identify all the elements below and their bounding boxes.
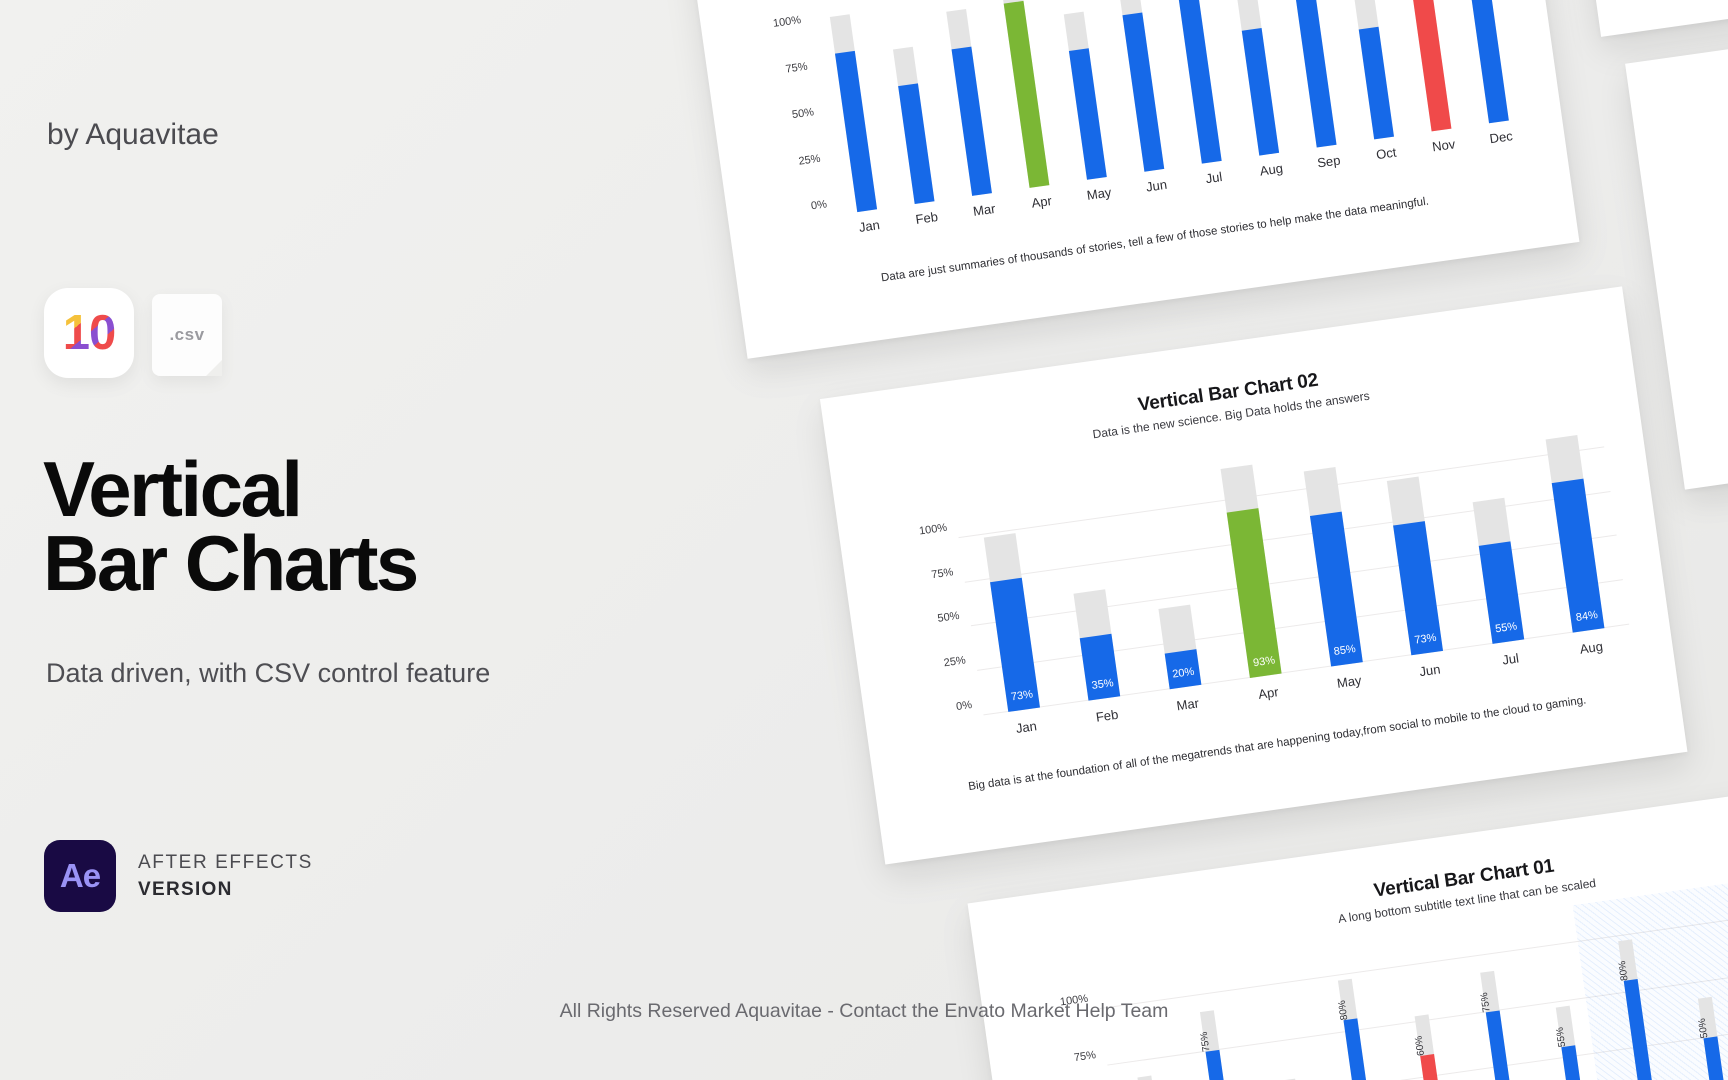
bar-fill[interactable]	[1178, 0, 1222, 164]
bar-fill[interactable]	[1420, 1054, 1453, 1080]
bar-category-label: May	[1086, 185, 1112, 203]
author-byline: by Aquavitae	[47, 118, 219, 152]
plot2-ytick: 50%	[937, 610, 960, 625]
bar-category-label: Apr	[1257, 684, 1279, 702]
left-info-panel: by Aquavitae 10 .csv Vertical Bar Charts…	[0, 0, 700, 1080]
bar-category-label: Jun	[1145, 177, 1168, 195]
footer-rights-text: All Rights Reserved Aquavitae - Contact …	[0, 1000, 1728, 1023]
bar-category-label: Jan	[1015, 718, 1038, 736]
after-effects-line-1: AFTER EFFECTS	[138, 852, 313, 874]
after-effects-icon: Ae	[44, 840, 116, 912]
plot3-bars: JanFebMarAprMayJunJulAugSepOctNovDec	[806, 0, 1528, 215]
chart-card-03[interactable]: Vertical Bar Chart 03 Where there is dat…	[682, 0, 1579, 359]
bar-category-label: Feb	[1095, 707, 1119, 725]
chart-card-04[interactable]: 40k 30k 20k 10k 0k	[1543, 0, 1728, 37]
bar-category-label: Apr	[1031, 193, 1053, 211]
bar-track	[1138, 1076, 1173, 1080]
bar-category-label: Jun	[1418, 661, 1441, 679]
bar-fill[interactable]	[1624, 979, 1663, 1080]
chart-05-body	[1625, 4, 1728, 490]
bar-fill[interactable]	[1465, 0, 1509, 123]
bar-category-label: Nov	[1431, 136, 1456, 154]
plot1-bars: 50%First line data75%Second line data40%…	[1096, 868, 1728, 1080]
bar-fill[interactable]	[1122, 13, 1164, 172]
bar-category-label: Jul	[1501, 650, 1520, 667]
page-tagline: Data driven, with CSV control feature	[46, 658, 490, 689]
bar-category-label: Jan	[858, 217, 881, 235]
plot3-ytick: 25%	[798, 152, 821, 167]
presentation-slide: 40k 30k 20k 10k 0k Vertical Bar Chart 03…	[0, 0, 1728, 1080]
count-badge-number: 10	[63, 305, 116, 361]
bar-fill[interactable]	[1562, 1045, 1593, 1080]
bar-category-label: Jul	[1205, 169, 1224, 186]
chart-card-05[interactable]	[1625, 4, 1728, 490]
after-effects-line-2: VERSION	[138, 879, 313, 901]
bar-fill[interactable]	[1227, 508, 1282, 677]
chart-card-02[interactable]: Vertical Bar Chart 02 Data is the new sc…	[820, 286, 1688, 864]
bar-category-label: Mar	[972, 201, 996, 219]
count-badge: 10	[44, 288, 134, 378]
plot1-ytick: 75%	[1073, 1049, 1096, 1064]
badge-row: 10 .csv	[44, 288, 222, 378]
page-title-line-2: Bar Charts	[43, 526, 417, 600]
chart-card-collage: 40k 30k 20k 10k 0k Vertical Bar Chart 03…	[563, 0, 1728, 1080]
bar-fill[interactable]	[1242, 28, 1279, 156]
plot2-ytick: 25%	[943, 655, 966, 670]
bar-fill[interactable]	[898, 84, 934, 204]
chart-04-body: 40k 30k 20k 10k 0k	[1543, 0, 1728, 37]
plot3-ytick: 0%	[810, 198, 827, 212]
plot3-ytick: 50%	[791, 106, 814, 121]
bar-category-label: Dec	[1489, 128, 1514, 146]
after-effects-glyph: Ae	[60, 857, 100, 895]
bar-fill[interactable]	[1703, 1037, 1728, 1080]
bar-category-label: Oct	[1375, 145, 1397, 163]
chart-02-plot-area: 0%25%50%75%100%73%Jan35%Feb20%Mar93%Apr8…	[952, 403, 1629, 716]
bar-fill[interactable]	[1344, 1018, 1383, 1080]
bar-fill[interactable]	[1004, 1, 1050, 188]
bar-fill[interactable]	[1069, 48, 1107, 179]
chart-02-body: Vertical Bar Chart 02 Data is the new sc…	[820, 286, 1688, 864]
chart-03-body: Vertical Bar Chart 03 Where there is dat…	[682, 0, 1579, 359]
after-effects-text: AFTER EFFECTS VERSION	[138, 852, 313, 901]
bar-fill[interactable]	[1359, 26, 1394, 139]
plot2-ytick: 100%	[918, 522, 948, 538]
plot2-ytick: 0%	[955, 699, 972, 713]
plot2-ytick: 75%	[931, 566, 954, 581]
plot3-ytick: 100%	[772, 15, 802, 31]
plot3-ytick: 75%	[785, 60, 808, 75]
csv-file-label: .csv	[169, 325, 204, 345]
bar-category-label: Aug	[1259, 160, 1284, 178]
bar-category-label: Feb	[915, 209, 939, 227]
plot2-bars: 73%Jan35%Feb20%Mar93%Apr85%May73%Jun55%J…	[952, 403, 1629, 716]
bar-fill[interactable]	[1412, 0, 1451, 131]
bar-category-label: Sep	[1316, 152, 1341, 170]
chart-03-plot-area: 0%25%50%75%100%JanFebMarAprMayJunJulAugS…	[806, 0, 1528, 215]
page-title: Vertical Bar Charts	[43, 452, 417, 600]
page-title-line-1: Vertical	[43, 452, 417, 526]
csv-file-icon: .csv	[152, 294, 222, 376]
chart-01-plot-area: 0%25%50%75%100%50%First line data75%Seco…	[1096, 868, 1728, 1080]
bar-category-label: May	[1336, 673, 1362, 691]
bar-category-label: Aug	[1579, 639, 1604, 657]
bar-fill[interactable]	[835, 51, 877, 212]
bar-category-label: Mar	[1176, 695, 1200, 713]
bar-fill[interactable]	[1296, 0, 1337, 148]
bar-fill[interactable]	[951, 46, 991, 196]
bar-fill[interactable]	[1205, 1049, 1243, 1080]
after-effects-badge: Ae AFTER EFFECTS VERSION	[44, 840, 313, 912]
